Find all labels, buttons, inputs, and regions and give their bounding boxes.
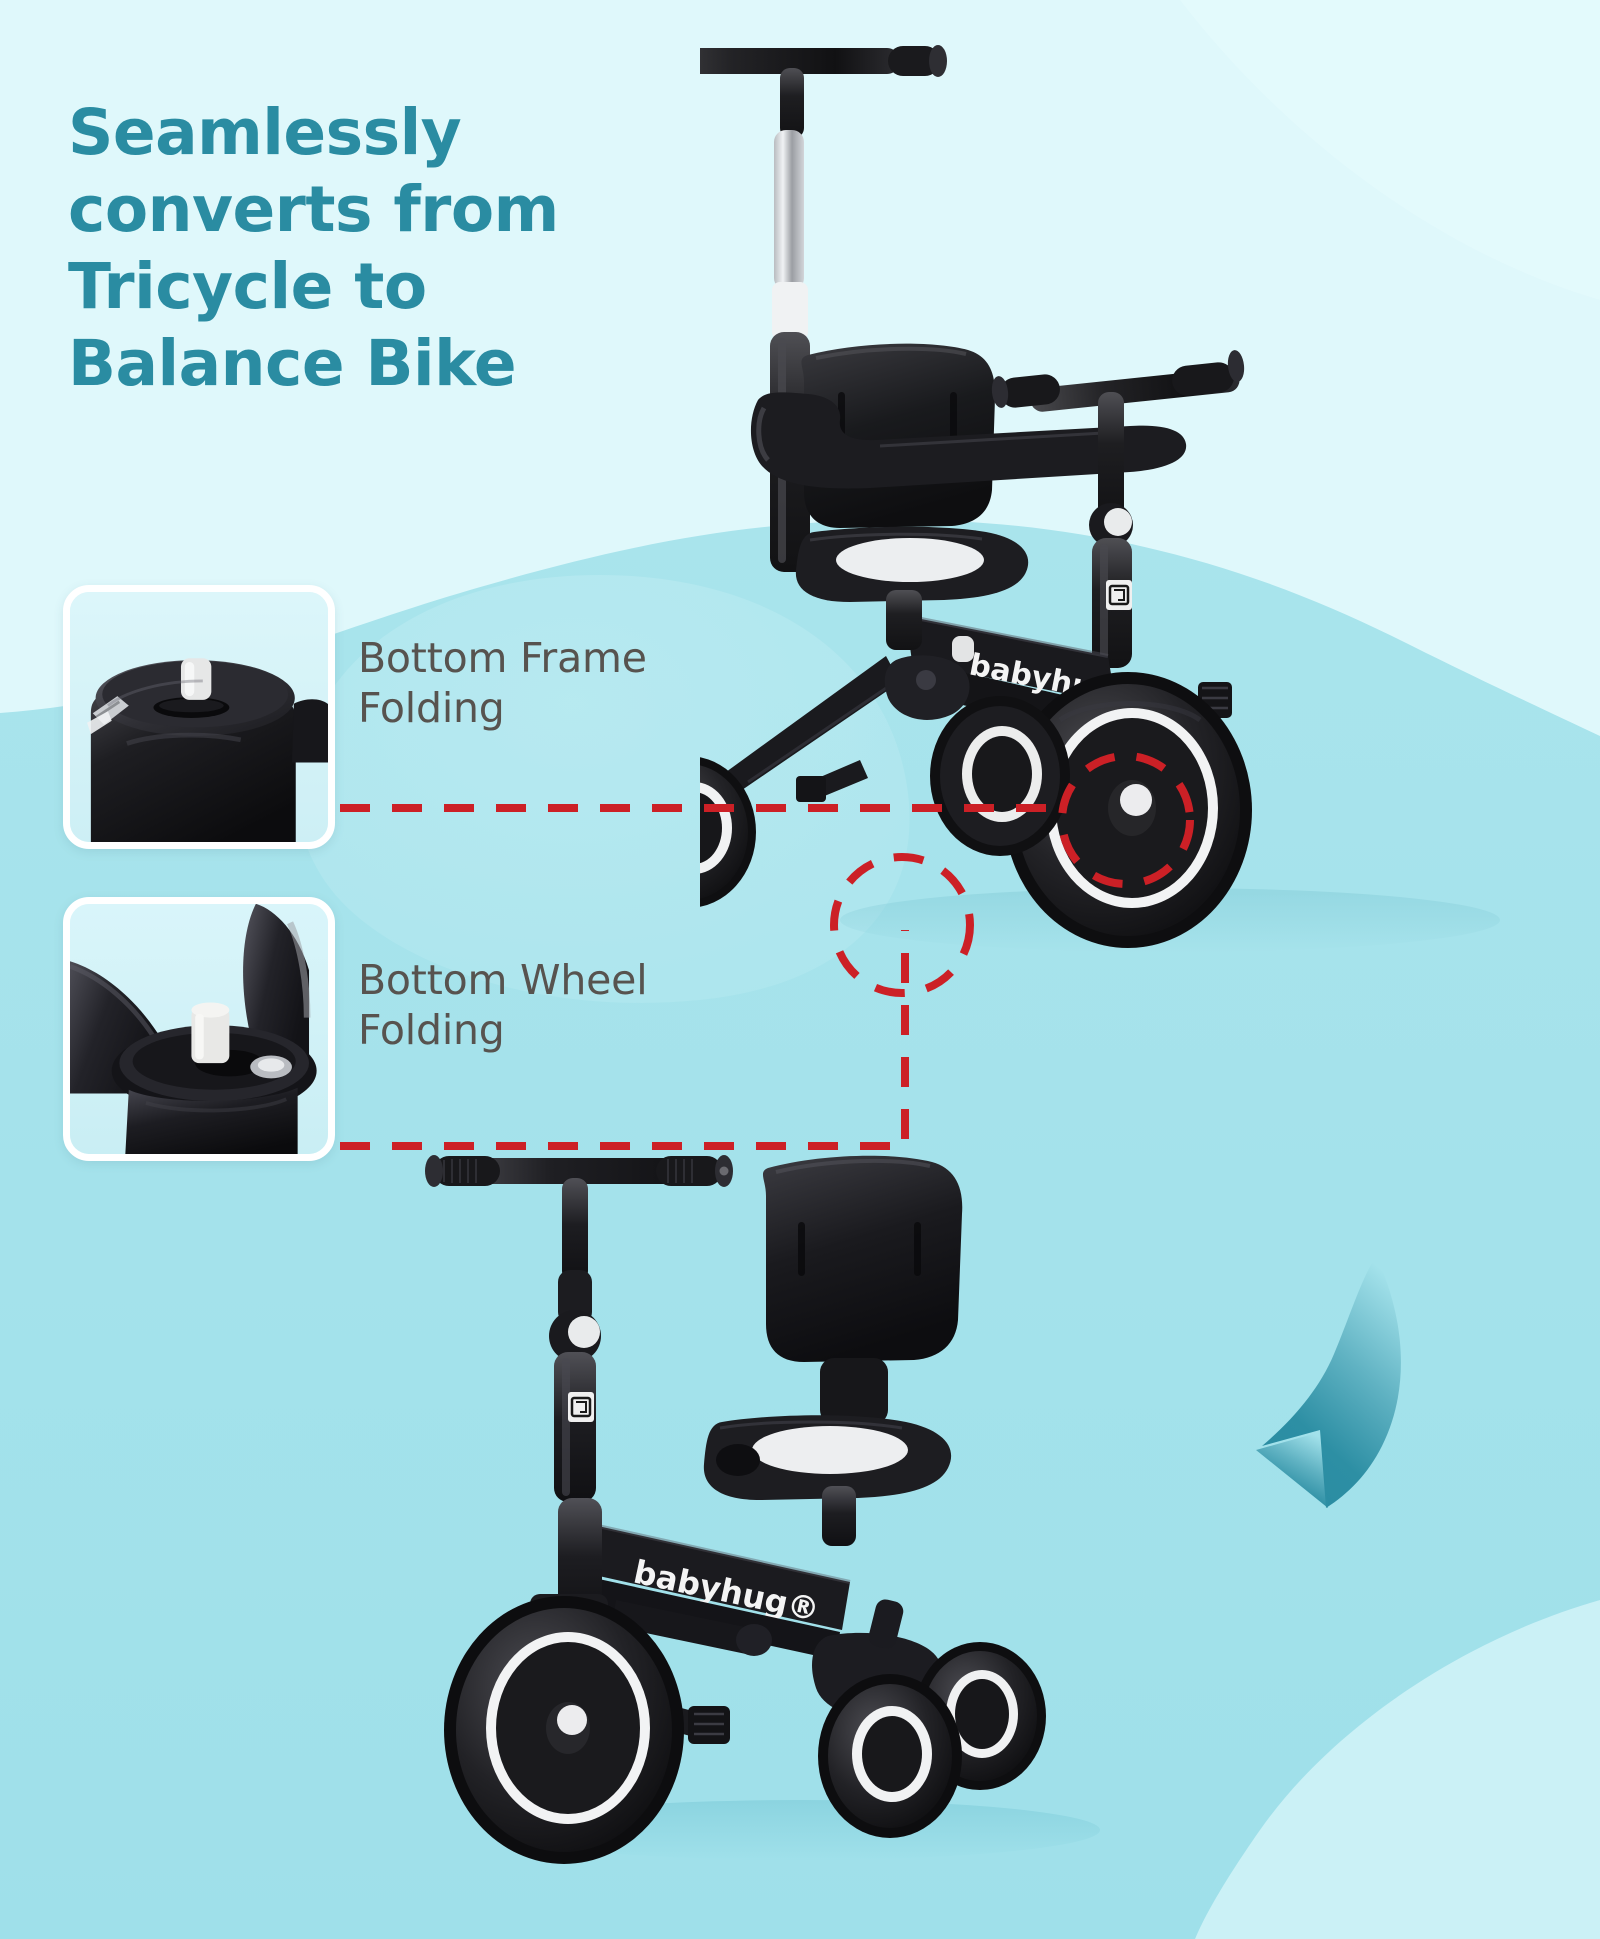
handlebar: [425, 1155, 733, 1502]
conversion-arrow: [1170, 1250, 1430, 1510]
backrest: [763, 1156, 962, 1424]
inset-photo-bottom-wheel-folding: [63, 897, 335, 1161]
callout-label-bottom-wheel-folding: Bottom Wheel Folding: [358, 955, 778, 1055]
rear-wheel-near: [818, 1674, 962, 1838]
page-title: Seamlessly converts from Tricycle to Bal…: [68, 95, 708, 402]
callout-label-bottom-frame-folding: Bottom Frame Folding: [358, 633, 778, 733]
isi-certification-mark: [1106, 580, 1132, 610]
handlebar: [990, 349, 1245, 668]
isi-certification-mark: [568, 1392, 594, 1422]
product-image-balance-bike: babyhug®: [420, 1130, 1180, 1890]
mid-wheel: [930, 696, 1070, 856]
infographic-canvas: Seamlessly converts from Tricycle to Bal…: [0, 0, 1600, 1939]
product-image-tricycle: babyhug: [700, 20, 1580, 1020]
front-wheel: [444, 1596, 684, 1864]
inset-photo-bottom-frame-folding: [63, 585, 335, 849]
